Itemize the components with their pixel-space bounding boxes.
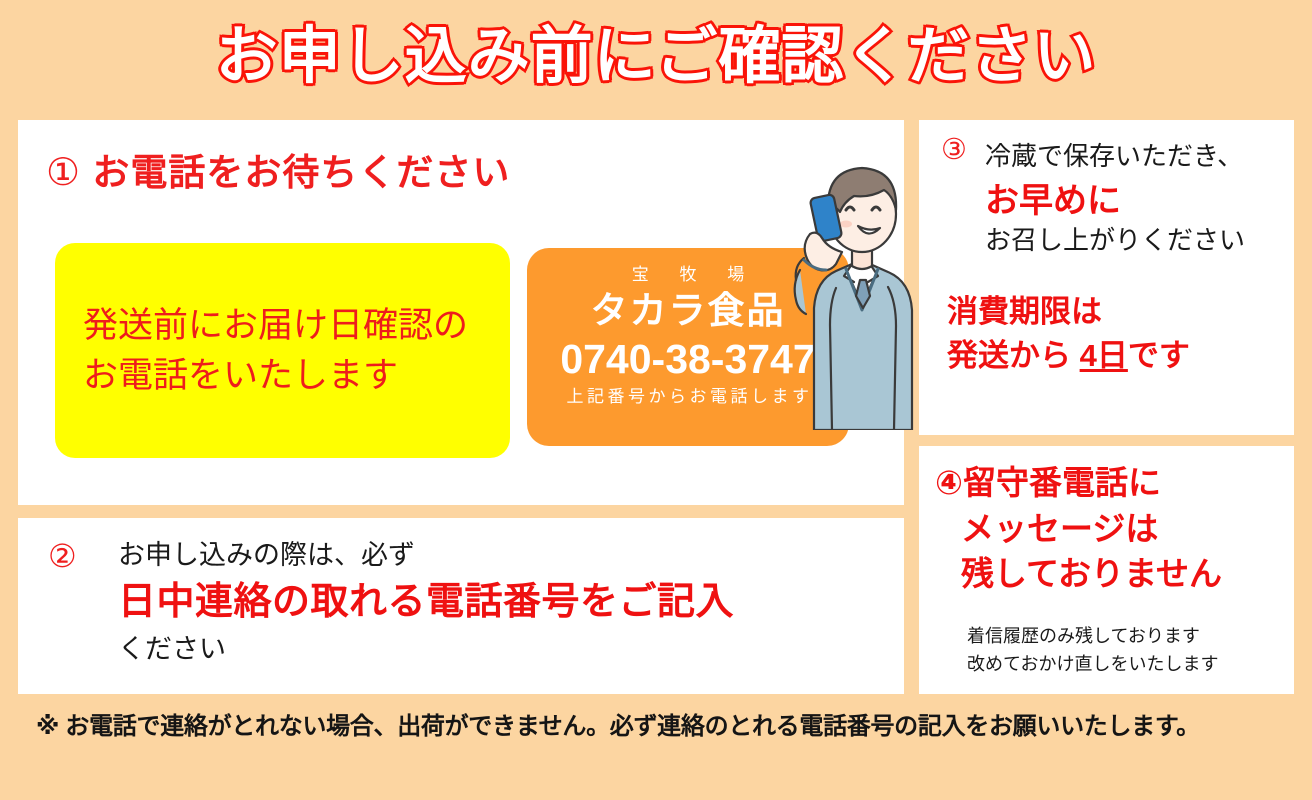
panel-three-line-1: 冷蔵で保存いただき、 (985, 136, 1243, 173)
page-title: お申し込み前にご確認ください (216, 26, 1097, 88)
panel-three-line-3: お召し上がりください (985, 220, 1245, 257)
expiry-suffix: です (1128, 338, 1190, 373)
panel-three-storage: ③ 冷蔵で保存いただき、 お早めに お召し上がりください 消費期限は 発送から … (919, 120, 1294, 435)
panel-four-line-1-label: 留守番電話に (963, 464, 1161, 501)
panel-four-subnote: 着信履歴のみ残しております 改めておかけ直しをいたします (967, 623, 1218, 679)
panel-four-line-3: 残しておりません (935, 551, 1222, 597)
panel-two-daytime-phone: ② お申し込みの際は、必ず 日中連絡の取れる電話番号をご記入 ください (18, 518, 904, 694)
delivery-confirmation-line-1: 発送前にお届け日確認の (83, 301, 510, 351)
panel-four-voicemail: ④留守番電話に メッセージは 残しておりません 着信履歴のみ残しております 改め… (919, 446, 1294, 694)
panel-four-number: ④ (935, 464, 963, 501)
panel-one-heading-label: お電話をお待ちください (92, 152, 510, 193)
delivery-confirmation-callout: 発送前にお届け日確認の お電話をいたします (55, 243, 510, 458)
panel-one-heading: ① お電話をお待ちください (46, 142, 510, 196)
panel-one-number: ① (46, 152, 81, 194)
panel-two-emphasis: 日中連絡の取れる電話番号をご記入 (118, 575, 734, 630)
expiry-line-2: 発送から 4日です (947, 334, 1190, 378)
panel-two-lines: お申し込みの際は、必ず 日中連絡の取れる電話番号をご記入 ください (118, 536, 734, 669)
poster-root: お申し込み前にご確認ください ① お電話をお待ちください 発送前にお届け日確認の… (0, 0, 1312, 800)
expiry-days: 4日 (1080, 338, 1128, 373)
panel-four-sub-line-1: 着信履歴のみ残しております (967, 623, 1218, 651)
panel-two-line-3: ください (118, 630, 734, 669)
poster-title-bar: お申し込み前にご確認ください (0, 0, 1312, 113)
company-contact-card: 宝 牧 場 タカラ食品 0740-38-3747 上記番号からお電話します (527, 248, 849, 446)
footer-warning: ※ お電話で連絡がとれない場合、出荷ができません。必ず連絡のとれる電話番号の記入… (36, 706, 1286, 741)
panel-four-line-2: メッセージは (935, 506, 1222, 552)
expiry-prefix: 発送から (947, 338, 1080, 373)
delivery-confirmation-line-2: お電話をいたします (83, 351, 510, 401)
expiry-line-1: 消費期限は (947, 290, 1190, 334)
panel-four-line-1: ④留守番電話に (935, 460, 1222, 506)
company-phone-number[interactable]: 0740-38-3747 (527, 333, 849, 385)
panel-two-number: ② (48, 540, 77, 572)
panel-four-lines: ④留守番電話に メッセージは 残しておりません (935, 460, 1222, 597)
company-name: タカラ食品 (527, 288, 849, 333)
company-subtitle: 宝 牧 場 (527, 262, 849, 288)
company-phone-note: 上記番号からお電話します (527, 385, 849, 410)
panel-three-number: ③ (941, 136, 967, 165)
panel-three-emphasis: お早めに (985, 173, 1121, 222)
panel-two-line-1: お申し込みの際は、必ず (118, 536, 734, 575)
panel-one-phone-wait: ① お電話をお待ちください 発送前にお届け日確認の お電話をいたします 宝 牧 … (18, 120, 904, 505)
panel-four-sub-line-2: 改めておかけ直しをいたします (967, 651, 1218, 679)
expiry-notice: 消費期限は 発送から 4日です (947, 290, 1190, 378)
